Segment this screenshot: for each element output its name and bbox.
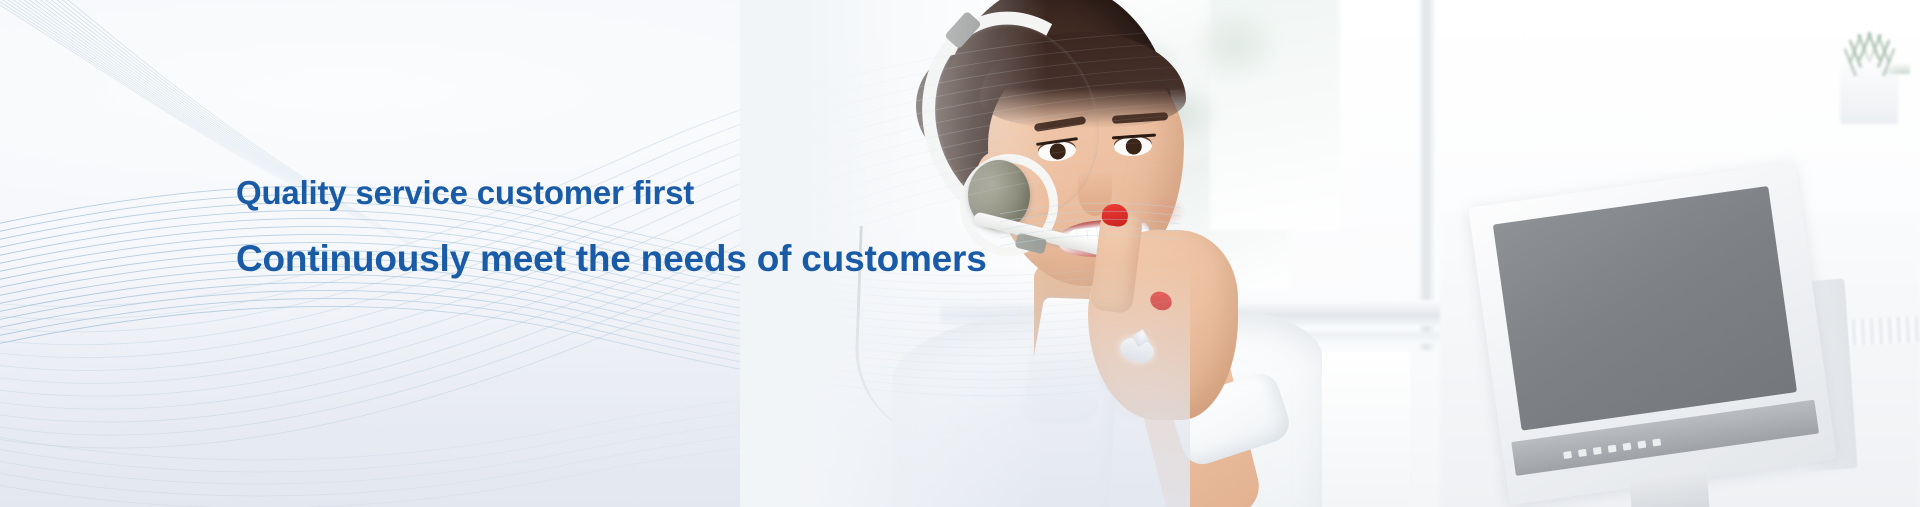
headline-line-1: Quality service customer first	[236, 176, 987, 210]
headline-block: Quality service customer first Continuou…	[236, 176, 987, 279]
hero-banner: Quality service customer first Continuou…	[0, 0, 1920, 507]
headline-line-2: Continuously meet the needs of customers	[236, 240, 987, 278]
